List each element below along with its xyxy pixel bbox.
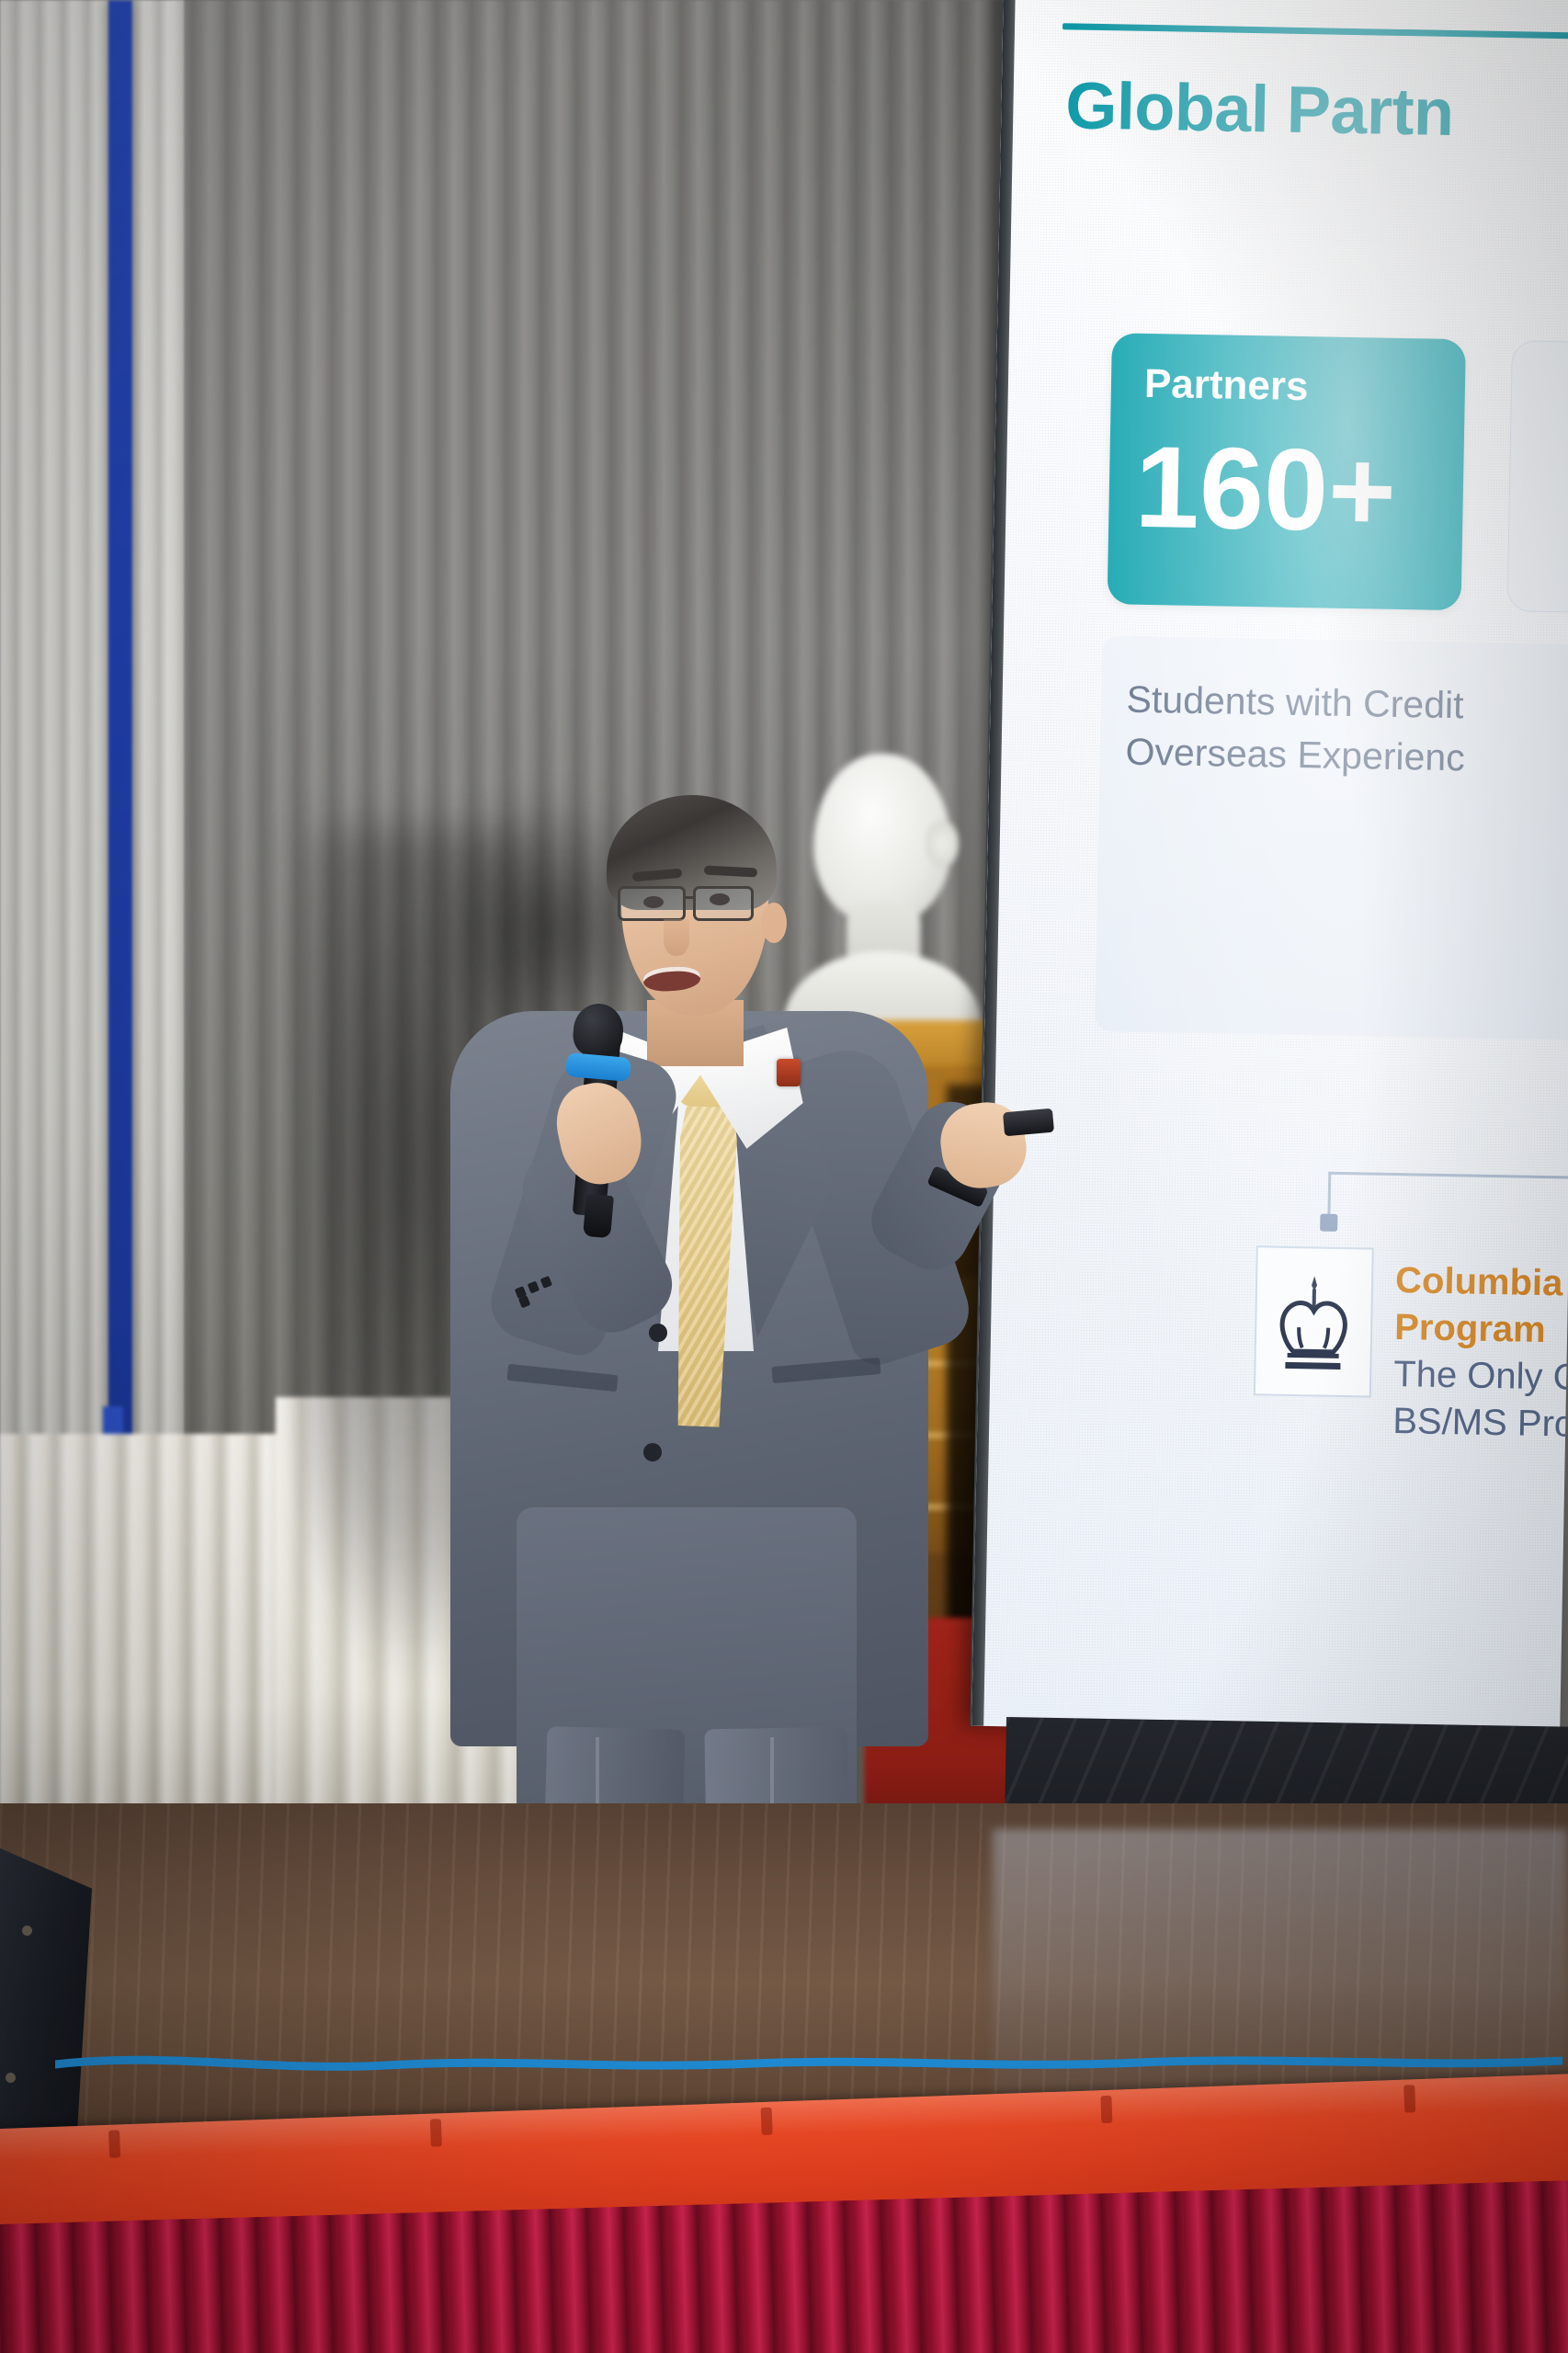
apron-tack <box>430 2119 442 2146</box>
blue-stage-cable <box>55 2050 1562 2074</box>
apron-tack <box>108 2130 120 2157</box>
suit-button-bottom <box>643 1443 662 1461</box>
stage-monitor-speaker <box>0 1840 92 2143</box>
suit-button-top <box>649 1324 667 1342</box>
speaker-nose <box>664 919 689 956</box>
lapel-pin <box>777 1059 801 1086</box>
presentation-clicker <box>1003 1108 1054 1137</box>
apron-tack <box>1403 2085 1415 2112</box>
monitor-screw-lower <box>6 2073 16 2083</box>
eyeglass-lens-left <box>618 886 686 921</box>
eyeglasses-icon <box>616 886 779 923</box>
monitor-screw-upper <box>22 1926 32 1936</box>
eyeglass-lens-right <box>693 886 754 921</box>
eyeglass-bridge <box>686 896 695 899</box>
stage-presentation-photo: Global Partn Partners 160+ Students with… <box>0 0 1568 2353</box>
apron-tack <box>761 2108 773 2135</box>
apron-tack <box>1100 2096 1112 2123</box>
microphone-base <box>583 1194 614 1238</box>
